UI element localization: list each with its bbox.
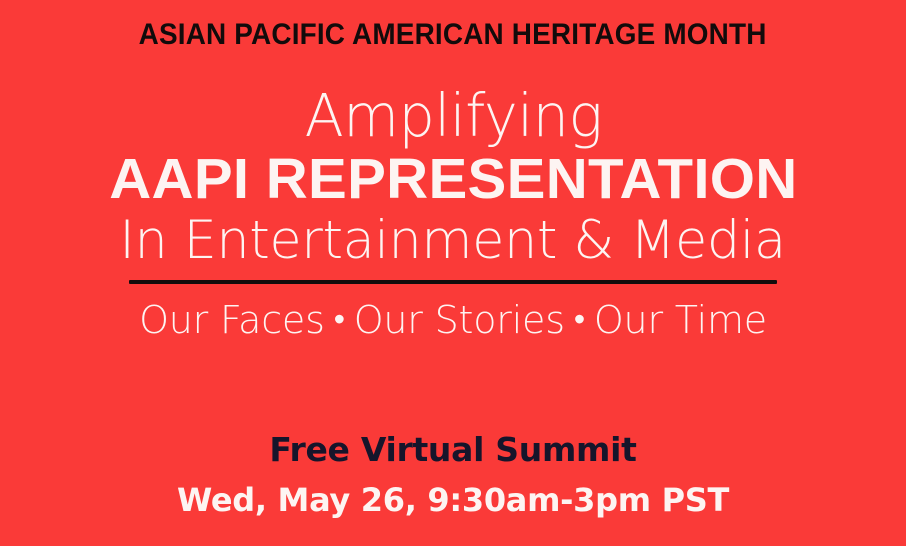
headline-block: Amplifying AAPIREPRESENTATION In Enterta…: [0, 85, 906, 343]
heritage-month-poster: ASIAN PACIFIC AMERICAN HERITAGE MONTH Am…: [0, 0, 906, 546]
tagline-item-our-faces: Our Faces: [139, 298, 325, 342]
headline-word-representation: REPRESENTATION: [265, 147, 797, 211]
event-details-block: Free Virtual Summit Wed, May 26, 9:30am-…: [0, 430, 906, 520]
headline-line-entertainment-media: In Entertainment & Media: [120, 211, 786, 271]
bullet-separator-icon: •: [325, 296, 354, 342]
bullet-separator-icon: •: [565, 296, 594, 342]
headline-word-aapi: AAPI: [109, 147, 249, 211]
headline-divider-rule: [129, 280, 777, 284]
tagline: Our Faces•Our Stories•Our Time: [139, 296, 767, 343]
event-datetime: Wed, May 26, 9:30am-3pm PST: [177, 480, 729, 520]
headline-line-amplifying: Amplifying: [304, 85, 602, 147]
tagline-item-our-stories: Our Stories: [354, 298, 565, 342]
kicker-heading: ASIAN PACIFIC AMERICAN HERITAGE MONTH: [139, 17, 767, 53]
event-title: Free Virtual Summit: [269, 430, 636, 470]
headline-line-aapi-representation: AAPIREPRESENTATION: [109, 147, 797, 211]
tagline-item-our-time: Our Time: [594, 298, 767, 342]
